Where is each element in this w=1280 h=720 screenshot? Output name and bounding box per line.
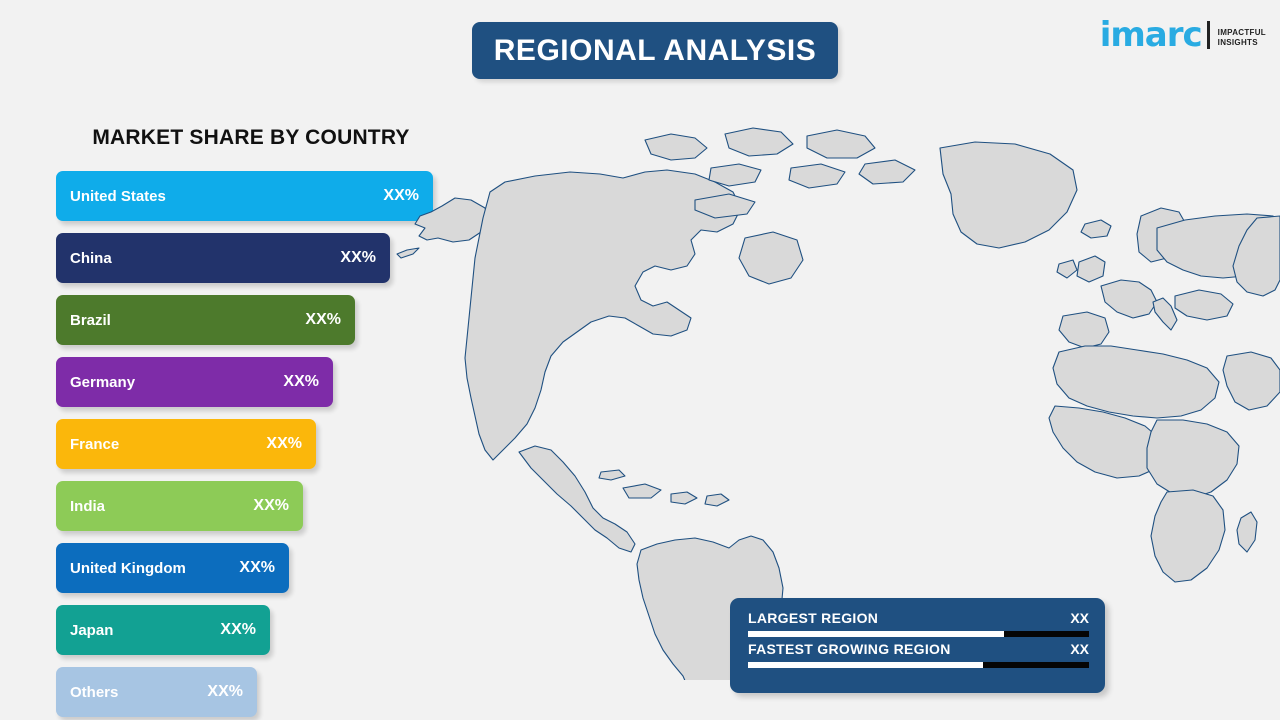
market-share-bar[interactable]: FranceXX%	[56, 419, 316, 469]
page-title-banner: REGIONAL ANALYSIS	[472, 22, 838, 79]
bar-row: FranceXX%	[56, 419, 433, 469]
info-label: LARGEST REGION	[748, 610, 878, 626]
chart-heading: MARKET SHARE BY COUNTRY	[56, 126, 446, 150]
bar-row: OthersXX%	[56, 667, 433, 717]
logo-divider	[1207, 21, 1210, 49]
imarc-logo: imarc IMPACTFUL INSIGHTS	[1100, 8, 1266, 52]
bar-row: United StatesXX%	[56, 171, 433, 221]
bar-label: United Kingdom	[70, 560, 186, 577]
bar-row: BrazilXX%	[56, 295, 433, 345]
bar-value: XX%	[328, 249, 376, 267]
bar-row: ChinaXX%	[56, 233, 433, 283]
bar-row: JapanXX%	[56, 605, 433, 655]
progress-fill	[748, 662, 983, 668]
logo-tagline-line1: IMPACTFUL	[1218, 28, 1266, 38]
info-label: FASTEST GROWING REGION	[748, 641, 951, 657]
info-row: LARGEST REGIONXX	[748, 610, 1089, 637]
bar-label: Others	[70, 684, 118, 701]
region-summary-box: LARGEST REGIONXXFASTEST GROWING REGIONXX	[730, 598, 1105, 693]
market-share-bar[interactable]: BrazilXX%	[56, 295, 355, 345]
bar-label: Brazil	[70, 312, 111, 329]
bar-label: Germany	[70, 374, 135, 391]
world-map-svg	[395, 120, 1280, 680]
bar-value: XX%	[293, 311, 341, 329]
bar-row: IndiaXX%	[56, 481, 433, 531]
info-value: XX	[1060, 610, 1089, 626]
page-title: REGIONAL ANALYSIS	[494, 34, 816, 68]
market-share-bar[interactable]: United StatesXX%	[56, 171, 433, 221]
market-share-bar[interactable]: OthersXX%	[56, 667, 257, 717]
bar-row: United KingdomXX%	[56, 543, 433, 593]
slide-canvas: imarc IMPACTFUL INSIGHTS REGIONAL ANALYS…	[0, 0, 1280, 720]
progress-track	[748, 631, 1089, 637]
market-share-bar[interactable]: ChinaXX%	[56, 233, 390, 283]
bar-value: XX%	[227, 559, 275, 577]
bar-label: India	[70, 498, 105, 515]
logo-tagline-line2: INSIGHTS	[1218, 38, 1266, 48]
progress-fill	[748, 631, 1004, 637]
bar-value: XX%	[271, 373, 319, 391]
market-share-bar[interactable]: IndiaXX%	[56, 481, 303, 531]
bar-value: XX%	[241, 497, 289, 515]
market-share-bar-chart: United StatesXX%ChinaXX%BrazilXX%Germany…	[56, 171, 433, 720]
bar-label: Japan	[70, 622, 113, 639]
info-line: LARGEST REGIONXX	[748, 610, 1089, 626]
bar-label: China	[70, 250, 112, 267]
bar-value: XX%	[208, 621, 256, 639]
world-map	[395, 120, 1280, 680]
market-share-bar[interactable]: JapanXX%	[56, 605, 270, 655]
bar-label: United States	[70, 188, 166, 205]
logo-wordmark: imarc	[1100, 18, 1202, 52]
bar-row: GermanyXX%	[56, 357, 433, 407]
bar-value: XX%	[254, 435, 302, 453]
progress-track	[748, 662, 1089, 668]
bar-label: France	[70, 436, 119, 453]
market-share-bar[interactable]: United KingdomXX%	[56, 543, 289, 593]
logo-tagline: IMPACTFUL INSIGHTS	[1218, 28, 1266, 52]
bar-value: XX%	[195, 683, 243, 701]
info-row: FASTEST GROWING REGIONXX	[748, 641, 1089, 668]
info-value: XX	[1060, 641, 1089, 657]
info-line: FASTEST GROWING REGIONXX	[748, 641, 1089, 657]
market-share-bar[interactable]: GermanyXX%	[56, 357, 333, 407]
